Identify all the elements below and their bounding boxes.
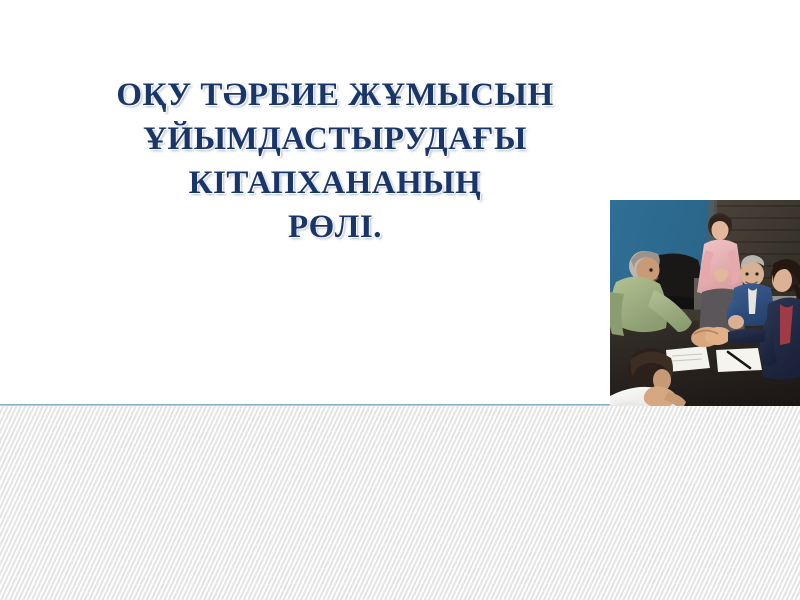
slide-title: ОҚУ ТӘРБИЕ ЖҰМЫСЫН ҰЙЫМДАСТЫРУДАҒЫ КІТАП… [40,74,630,250]
photo-illustration [610,200,800,437]
presentation-slide: ОҚУ ТӘРБИЕ ЖҰМЫСЫН ҰЙЫМДАСТЫРУДАҒЫ КІТАП… [0,0,800,600]
slide-bottom-decoration [0,406,800,600]
business-meeting-photo [610,200,800,437]
slide-title-block: ОҚУ ТӘРБИЕ ЖҰМЫСЫН ҰЙЫМДАСТЫРУДАҒЫ КІТАП… [40,74,630,250]
hatched-background-field [0,406,800,600]
